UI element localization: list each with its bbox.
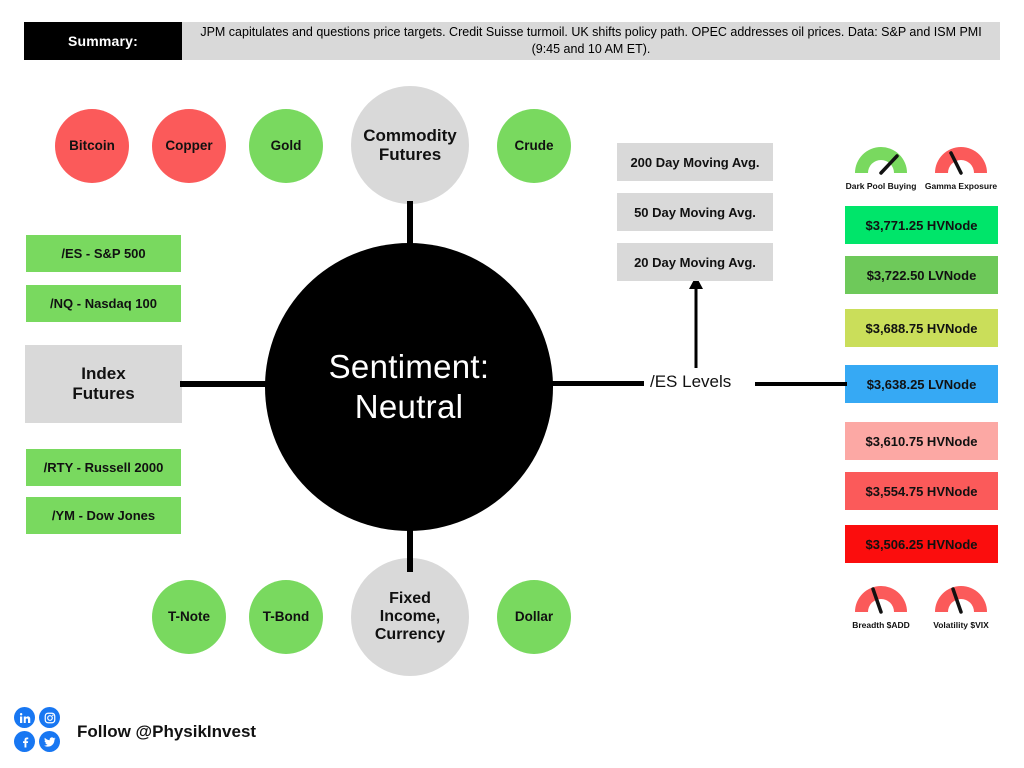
pill-rty-russell2000[interactable]: /RTY - Russell 2000 — [26, 449, 181, 486]
bubble-copper[interactable]: Copper — [152, 109, 226, 183]
level-bar-1[interactable]: $3,771.25 HVNode — [845, 206, 998, 244]
gauge-dark-pool-buying[interactable]: Dark Pool Buying — [842, 139, 920, 191]
level-bar-label: $3,722.50 LVNode — [867, 268, 977, 283]
bubble-label: Dollar — [515, 609, 553, 624]
bubble-label: Gold — [271, 138, 302, 153]
hub-label-line1: Index — [72, 364, 134, 384]
hub-label-line1: Fixed — [375, 590, 445, 608]
pill-label: /RTY - Russell 2000 — [44, 460, 164, 475]
twitter-icon[interactable] — [39, 731, 60, 752]
es-levels-label: /ES Levels — [650, 372, 731, 392]
moving-average-20day[interactable]: 20 Day Moving Avg. — [617, 243, 773, 281]
bubble-label: Crude — [514, 138, 553, 153]
level-bar-label: $3,688.75 HVNode — [865, 321, 977, 336]
instagram-icon[interactable] — [39, 707, 60, 728]
gauge-breadth-add[interactable]: Breadth $ADD — [842, 578, 920, 630]
gauge-label: Gamma Exposure — [922, 181, 1000, 191]
level-bar-4[interactable]: $3,638.25 LVNode — [845, 365, 998, 403]
moving-average-50day[interactable]: 50 Day Moving Avg. — [617, 193, 773, 231]
sentiment-line1: Sentiment: — [329, 347, 490, 387]
level-bar-2[interactable]: $3,722.50 LVNode — [845, 256, 998, 294]
gauge-volatility-vix[interactable]: Volatility $VIX — [922, 578, 1000, 630]
moving-average-200day[interactable]: 200 Day Moving Avg. — [617, 143, 773, 181]
twitter-glyph — [44, 736, 56, 748]
level-bar-label: $3,771.25 HVNode — [865, 218, 977, 233]
level-bar-label: $3,554.75 HVNode — [865, 484, 977, 499]
connector-fixedincome-to-center — [407, 527, 413, 572]
arrow-eslevels-to-moving-averages — [684, 276, 708, 368]
pill-label: /YM - Dow Jones — [52, 508, 155, 523]
pill-es-sp500[interactable]: /ES - S&P 500 — [26, 235, 181, 272]
bubble-t-bond[interactable]: T-Bond — [249, 580, 323, 654]
ma-label: 50 Day Moving Avg. — [634, 205, 756, 220]
bubble-label: T-Note — [168, 609, 210, 624]
facebook-icon[interactable] — [14, 731, 35, 752]
hub-label-line2: Futures — [72, 384, 134, 404]
connector-center-to-eslevels — [548, 381, 644, 386]
linkedin-icon[interactable] — [14, 707, 35, 728]
gauge-dial-icon — [849, 578, 913, 614]
level-bar-3[interactable]: $3,688.75 HVNode — [845, 309, 998, 347]
level-bar-6[interactable]: $3,554.75 HVNode — [845, 472, 998, 510]
gauge-label: Volatility $VIX — [922, 620, 1000, 630]
level-bar-label: $3,638.25 LVNode — [867, 377, 977, 392]
pill-nq-nasdaq100[interactable]: /NQ - Nasdaq 100 — [26, 285, 181, 322]
summary-label: Summary: — [24, 22, 182, 60]
facebook-glyph — [19, 736, 31, 748]
bubble-dollar[interactable]: Dollar — [497, 580, 571, 654]
hub-label-line2: Futures — [363, 145, 457, 164]
hub-commodity-futures[interactable]: Commodity Futures — [351, 86, 469, 204]
instagram-glyph — [44, 712, 56, 724]
gauge-label: Dark Pool Buying — [842, 181, 920, 191]
social-icons-group — [14, 707, 64, 755]
bubble-gold[interactable]: Gold — [249, 109, 323, 183]
ma-label: 200 Day Moving Avg. — [630, 155, 759, 170]
linkedin-glyph — [19, 712, 31, 724]
hub-label-line3: Currency — [375, 626, 445, 644]
hub-label-line2: Income, — [375, 608, 445, 626]
bubble-crude[interactable]: Crude — [497, 109, 571, 183]
hub-label-line1: Commodity — [363, 126, 457, 145]
summary-banner: Summary: JPM capitulates and questions p… — [24, 22, 1000, 60]
bubble-bitcoin[interactable]: Bitcoin — [55, 109, 129, 183]
gauge-dial-icon — [929, 578, 993, 614]
pill-ym-dowjones[interactable]: /YM - Dow Jones — [26, 497, 181, 534]
level-bar-label: $3,610.75 HVNode — [865, 434, 977, 449]
level-bar-5[interactable]: $3,610.75 HVNode — [845, 422, 998, 460]
level-bar-7[interactable]: $3,506.25 HVNode — [845, 525, 998, 563]
gauge-label: Breadth $ADD — [842, 620, 920, 630]
sentiment-line2: Neutral — [329, 387, 490, 427]
pill-label: /NQ - Nasdaq 100 — [50, 296, 157, 311]
pill-label: /ES - S&P 500 — [61, 246, 145, 261]
hub-index-futures[interactable]: Index Futures — [25, 345, 182, 423]
ma-label: 20 Day Moving Avg. — [634, 255, 756, 270]
follow-text: Follow @PhysikInvest — [77, 722, 256, 742]
connector-eslevels-to-bars — [755, 382, 847, 386]
bubble-label: Bitcoin — [69, 138, 115, 153]
gauge-gamma-exposure[interactable]: Gamma Exposure — [922, 139, 1000, 191]
gauge-dial-icon — [929, 139, 993, 175]
summary-text: JPM capitulates and questions price targ… — [182, 22, 1000, 60]
level-bar-label: $3,506.25 HVNode — [865, 537, 977, 552]
hub-fixed-income-currency[interactable]: Fixed Income, Currency — [351, 558, 469, 676]
bubble-t-note[interactable]: T-Note — [152, 580, 226, 654]
bubble-label: T-Bond — [263, 609, 310, 624]
sentiment-circle: Sentiment: Neutral — [265, 243, 553, 531]
bubble-label: Copper — [165, 138, 212, 153]
connector-commodity-to-center — [407, 201, 413, 247]
gauge-dial-icon — [849, 139, 913, 175]
